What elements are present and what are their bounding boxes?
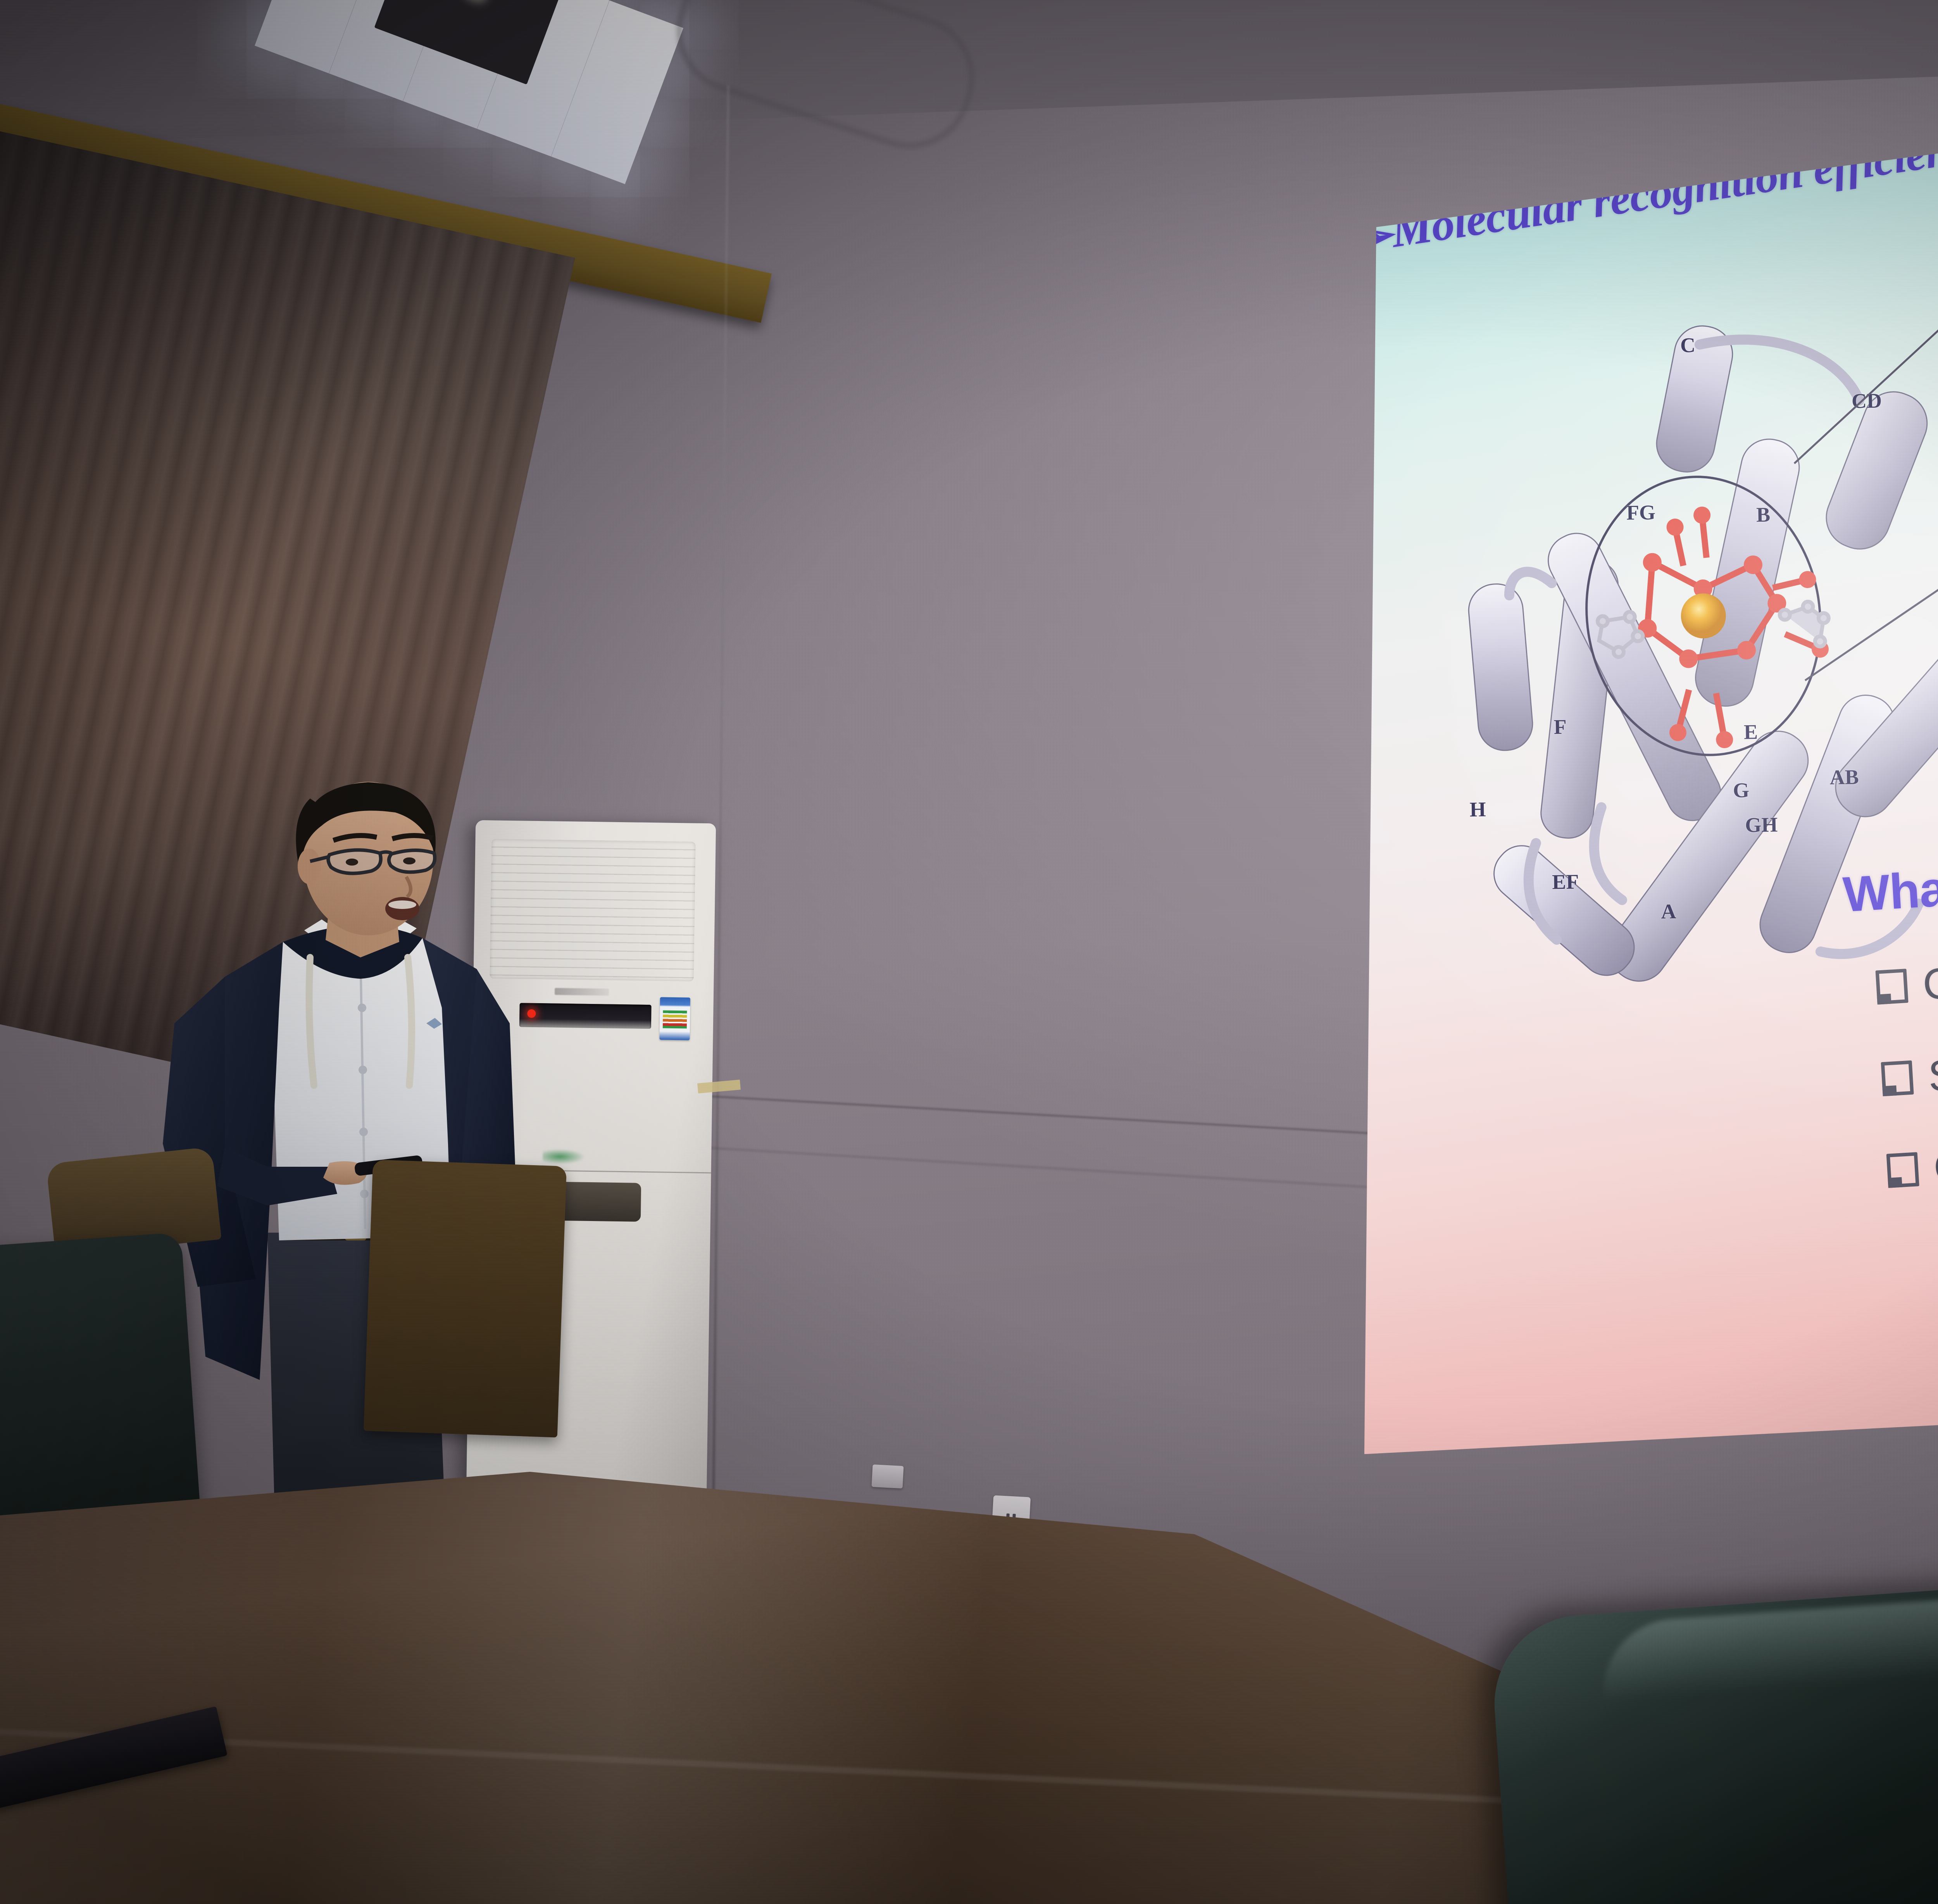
wooden-chair[interactable] [364, 1159, 567, 1437]
wall-socket-upper[interactable] [872, 1464, 904, 1488]
screenshot-root: ➢Molecular recognition efficiency and se… [0, 0, 1938, 1904]
energy-rating-label [659, 997, 690, 1040]
